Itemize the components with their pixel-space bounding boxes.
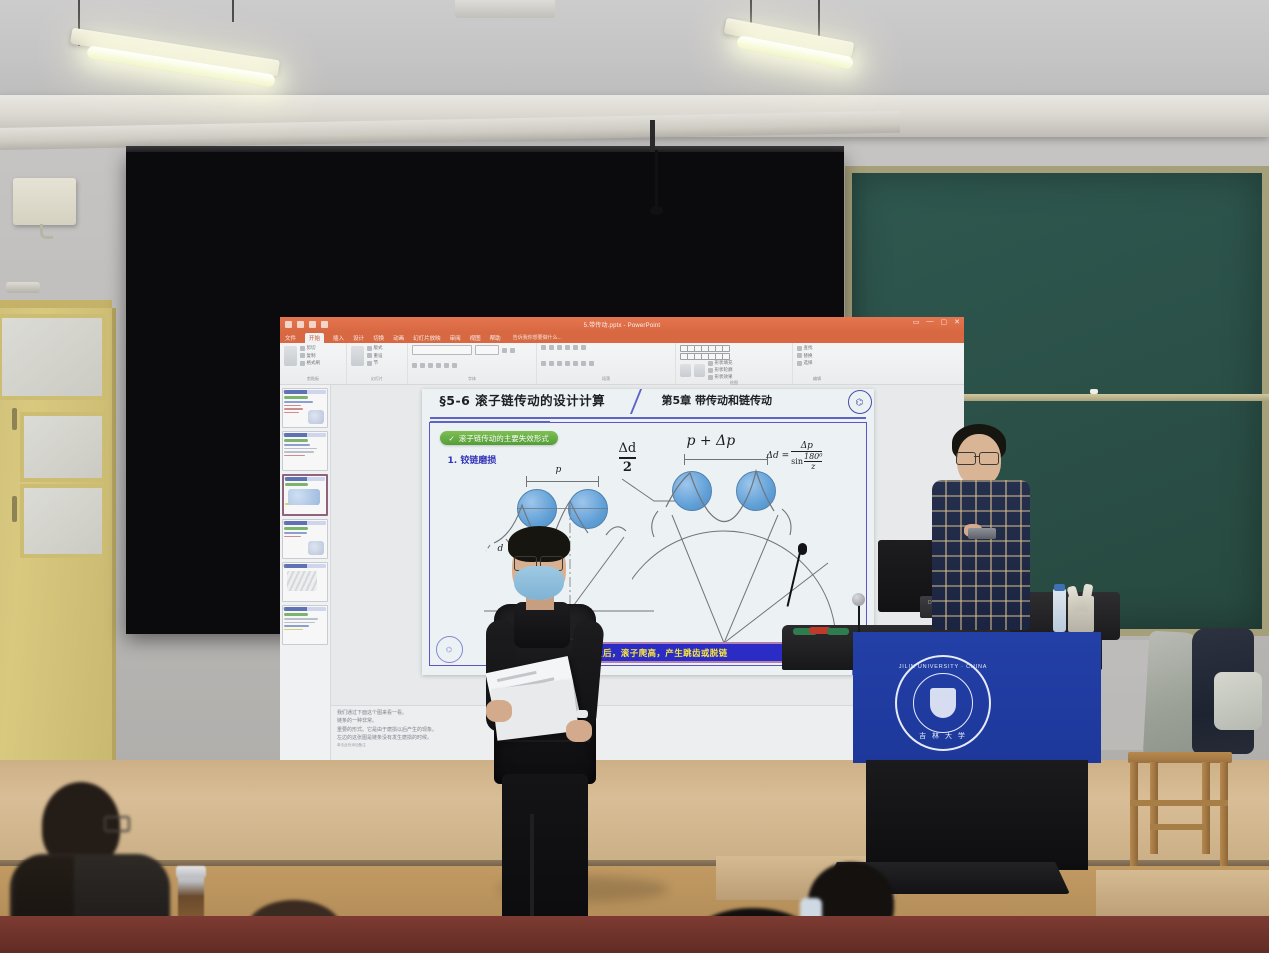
wall-bracket — [40, 224, 53, 239]
window-controls[interactable]: ▭ — ▢ ✕ — [913, 318, 960, 326]
minimize-icon[interactable]: — — [927, 318, 934, 326]
decrease-font-size-icon[interactable] — [510, 348, 515, 353]
ribbon-group-label-paragraph: 段落 — [541, 376, 671, 382]
thumbnail-number: 24 — [282, 521, 286, 525]
ribbon-group-label-slides: 幻灯片 — [351, 376, 403, 382]
thumb-line — [284, 532, 307, 534]
text-shadow-icon[interactable] — [436, 363, 441, 368]
gooseneck-microphone-icon — [798, 543, 807, 555]
thumbnail-slide-22[interactable]: 22 — [282, 431, 328, 471]
header-rule-accent — [430, 421, 550, 423]
emblem-english-text: JILIN UNIVERSITY · CHINA — [899, 664, 987, 670]
ribbon-group-label-font: 字体 — [412, 376, 532, 382]
thumb-artwork — [308, 410, 324, 424]
lamp-wire — [232, 0, 234, 22]
ribbon-group-label-editing: 编辑 — [797, 376, 837, 382]
emblem-inner-ring — [913, 673, 973, 733]
thumb-artwork — [287, 571, 317, 591]
person-at-podium — [938, 424, 1034, 634]
label-p-plus-delta-p: p + Δp — [687, 433, 736, 449]
pipe-fitting — [6, 282, 40, 293]
ribbon-group-editing[interactable]: 查找 替换 选择 编辑 — [793, 343, 841, 384]
cut-button[interactable]: 剪切 — [300, 345, 320, 351]
equation-delta-d: Δd = Δp sin 180⁰ z — [767, 441, 823, 471]
wall-speaker-box — [13, 178, 76, 225]
thumb-line — [284, 536, 301, 538]
thumb-line — [284, 401, 313, 403]
thumb-line — [284, 451, 314, 453]
wristwatch — [576, 710, 588, 718]
door-glass-pane — [20, 484, 106, 558]
door-glass-pane — [0, 314, 106, 400]
align-right-icon[interactable] — [557, 361, 562, 366]
thumb-header — [284, 390, 326, 394]
slide-thumbnail-pane[interactable]: 21 22 — [280, 385, 331, 769]
arrange-icon[interactable] — [680, 364, 691, 377]
tab-help[interactable]: 帮助 — [490, 334, 501, 342]
stool-leg — [1220, 762, 1228, 866]
thumbnail-slide-26[interactable]: 26 — [282, 605, 328, 645]
tab-review[interactable]: 审阅 — [450, 334, 461, 342]
water-bottle — [1053, 588, 1066, 632]
podium-base — [866, 760, 1088, 870]
paste-icon[interactable] — [284, 346, 297, 366]
thumb-header — [284, 433, 326, 437]
maximize-icon[interactable]: ▢ — [941, 318, 948, 326]
quick-styles-icon[interactable] — [694, 364, 705, 377]
thumb-header — [284, 607, 326, 611]
lamp-wire — [818, 0, 820, 40]
speaking-podium: JILIN UNIVERSITY · CHINA 吉 林 大 学 — [853, 632, 1101, 763]
emblem-shield-icon — [930, 688, 956, 718]
thumbnail-slide-24[interactable]: 24 — [282, 519, 328, 559]
thumb-header — [285, 477, 325, 481]
columns-icon[interactable] — [573, 361, 578, 366]
thumb-line — [284, 629, 303, 631]
classroom-door[interactable] — [0, 308, 116, 823]
tab-slideshow[interactable]: 幻灯片放映 — [413, 334, 441, 342]
font-color-icon[interactable] — [452, 363, 457, 368]
thumb-line — [284, 625, 309, 627]
thumb-line — [284, 408, 303, 410]
thumbnail-slide-23-selected[interactable]: 23 — [282, 474, 328, 516]
ribbon-group-clipboard[interactable]: 剪切 复制 格式刷 剪贴板 — [280, 343, 347, 384]
glasses-left-lens-icon — [956, 452, 976, 465]
equation-denominator: sin 180⁰ z — [791, 452, 822, 471]
text-direction-icon[interactable] — [581, 345, 586, 350]
tab-home[interactable]: 开始 — [305, 333, 324, 343]
laser-pointer-cable — [655, 150, 658, 212]
equation-numerator: Δp — [791, 441, 822, 451]
stool-rail — [1130, 800, 1228, 806]
new-slide-icon[interactable] — [351, 346, 364, 366]
find-button[interactable]: 查找 — [797, 345, 837, 351]
thumbnail-number: 26 — [282, 607, 286, 611]
ribbon-group-slides[interactable]: 版式 重设 节 幻灯片 — [347, 343, 408, 384]
underline-icon[interactable] — [428, 363, 433, 368]
sprocket-tooth-profile-right — [632, 467, 862, 647]
slide-chapter-title: 第5章 带传动和链传动 — [662, 392, 772, 408]
slide-item-1: 1. 铰链磨损 — [448, 453, 497, 466]
bullet-banner-label: 滚子链传动的主要失效形式 — [459, 433, 549, 444]
fraction-numerator: Δd — [619, 441, 637, 456]
face-mask — [514, 566, 564, 600]
plaid-shirt — [932, 480, 1030, 630]
tell-me-search[interactable]: 告诉我你想要做什么... — [513, 334, 562, 341]
bottle-cap — [1054, 584, 1065, 591]
door-handle[interactable] — [12, 408, 17, 430]
door-lock[interactable] — [12, 496, 17, 522]
label-p: p — [556, 465, 562, 475]
green-marker-2[interactable] — [827, 628, 849, 635]
thumb-line — [284, 622, 315, 624]
thumb-header — [284, 521, 326, 525]
shape-more-icon[interactable] — [722, 345, 730, 352]
tab-file[interactable]: 文件 — [285, 334, 296, 342]
glasses-right-lens-icon — [979, 452, 999, 465]
ppt-document-title: 5.带传动.pptx - PowerPoint — [280, 320, 964, 329]
close-icon[interactable]: ✕ — [954, 318, 960, 326]
presenter-person — [488, 524, 604, 949]
thumb-line — [284, 444, 310, 446]
dim-line-p — [526, 481, 598, 482]
projector-screen: 5.带传动.pptx - PowerPoint ▭ — ▢ ✕ 文件 开始 插入… — [126, 152, 844, 634]
align-center-icon[interactable] — [549, 361, 554, 366]
format-painter-button[interactable]: 格式刷 — [300, 360, 320, 366]
ppt-title-bar: 5.带传动.pptx - PowerPoint ▭ — ▢ ✕ — [280, 317, 964, 332]
bold-icon[interactable] — [412, 363, 417, 368]
inner-fraction: 180⁰ z — [804, 452, 822, 471]
shape-callout-icon[interactable] — [722, 353, 730, 360]
lecture-hall-photo: 5.带传动.pptx - PowerPoint ▭ — ▢ ✕ 文件 开始 插入… — [0, 0, 1269, 953]
student-desk-front-row — [0, 916, 1269, 953]
thumbnail-slide-25[interactable]: 25 — [282, 562, 328, 602]
slide-bullet-banner: ✓ 滚子链传动的主要失效形式 — [440, 431, 558, 445]
right-hand — [566, 720, 592, 742]
bullets-icon[interactable] — [541, 345, 546, 350]
pointer-tip-icon — [650, 206, 663, 215]
shapes-gallery[interactable] — [680, 345, 788, 360]
thumbnail-number: 23 — [283, 477, 287, 481]
numbering-icon[interactable] — [549, 345, 554, 350]
stool-leg — [1202, 762, 1210, 854]
check-icon: ✓ — [449, 434, 455, 443]
layout-button[interactable]: 版式 — [367, 345, 383, 351]
thermos-cap — [176, 866, 206, 878]
dim-line-pdp — [684, 459, 768, 460]
shape-fill-button[interactable]: 形状填充 — [708, 360, 733, 366]
tab-insert[interactable]: 插入 — [333, 334, 344, 342]
replace-button[interactable]: 替换 — [797, 353, 837, 359]
thumb-pill — [284, 613, 308, 616]
strikethrough-icon[interactable] — [444, 363, 449, 368]
italic-icon[interactable] — [420, 363, 425, 368]
university-watermark-icon: ⌬ — [436, 636, 463, 663]
ribbon-group-paragraph[interactable]: 段落 — [537, 343, 676, 384]
smartphone[interactable] — [968, 528, 996, 539]
emblem-chinese-text: 吉 林 大 学 — [919, 731, 967, 741]
reset-button[interactable]: 重设 — [367, 353, 383, 359]
thumb-artwork — [288, 489, 320, 505]
stool-leg — [1150, 762, 1158, 854]
fraction-bar — [619, 457, 637, 459]
tab-animations[interactable]: 动画 — [393, 334, 404, 342]
inner-numerator: 180⁰ — [804, 452, 822, 461]
thumb-pill — [284, 527, 308, 530]
marker-tray — [793, 627, 849, 635]
thumb-line — [284, 618, 318, 620]
thumb-line — [284, 412, 299, 414]
font-size-combobox[interactable] — [475, 345, 499, 355]
chalk-piece[interactable] — [1090, 389, 1098, 394]
thumb-pill — [285, 483, 308, 486]
thumb-pill — [284, 396, 308, 399]
justify-icon[interactable] — [565, 361, 570, 366]
thumbnail-number: 21 — [282, 390, 286, 394]
university-logo-icon: ⌬ — [848, 390, 872, 414]
stool-leg — [1130, 762, 1138, 866]
stool-seat — [1128, 752, 1232, 763]
tab-transitions[interactable]: 切换 — [373, 334, 384, 342]
thumb-artwork — [308, 541, 324, 555]
shape-outline-button[interactable]: 形状轮廓 — [708, 367, 733, 373]
copy-button[interactable]: 复制 — [300, 353, 320, 359]
thumb-line — [284, 448, 317, 450]
glasses-icon — [104, 816, 130, 832]
ribbon-group-font[interactable]: 字体 — [408, 343, 537, 384]
wooden-stool — [1128, 752, 1232, 868]
select-button[interactable]: 选择 — [797, 360, 837, 366]
thumbnail-number: 25 — [282, 564, 286, 568]
ribbon-group-label-clipboard: 剪贴板 — [284, 376, 342, 382]
glasses-bridge — [535, 561, 540, 562]
equation-lhs: Δd = — [767, 451, 790, 461]
thumb-line — [284, 405, 301, 407]
slide-section-title: §5-6 滚子链传动的设计计算 — [440, 390, 606, 409]
stool-rail — [1150, 824, 1206, 830]
convert-smartart-icon[interactable] — [589, 361, 594, 366]
increase-indent-icon[interactable] — [565, 345, 570, 350]
glasses-bridge — [974, 456, 979, 457]
line-spacing-icon[interactable] — [573, 345, 578, 350]
equation-fraction: Δp sin 180⁰ z — [791, 441, 822, 471]
stage-step — [1096, 870, 1269, 920]
increase-font-size-icon[interactable] — [502, 348, 507, 353]
decrease-indent-icon[interactable] — [557, 345, 562, 350]
sin-label: sin — [791, 457, 803, 466]
jilin-university-emblem: JILIN UNIVERSITY · CHINA 吉 林 大 学 — [895, 655, 991, 751]
font-name-combobox[interactable] — [412, 345, 472, 355]
tab-view[interactable]: 视图 — [470, 334, 481, 342]
thumb-header — [284, 564, 326, 568]
door-glass-pane — [20, 412, 106, 482]
thumb-line — [284, 455, 305, 457]
dim-tick — [684, 454, 685, 465]
header-rule — [430, 417, 866, 420]
align-left-icon[interactable] — [541, 361, 546, 366]
ribbon-group-drawing[interactable]: 形状填充 形状轮廓 形状效果 绘图 — [676, 343, 793, 384]
inner-denominator: z — [804, 462, 822, 471]
handheld-microphone-icon[interactable] — [852, 593, 865, 606]
draped-bag — [1214, 672, 1262, 730]
left-hand — [486, 700, 512, 722]
thumb-pill — [284, 439, 308, 442]
ribbon-tabs[interactable]: 文件 开始 插入 设计 切换 动画 幻灯片放映 审阅 视图 帮助 告诉我你想要做… — [280, 332, 964, 343]
thumbnail-number: 22 — [282, 433, 286, 437]
thumbnail-slide-21[interactable]: 21 — [282, 388, 328, 428]
ribbon[interactable]: 剪切 复制 格式刷 剪贴板 版式 重设 节 幻灯片 — [280, 343, 964, 385]
align-text-icon[interactable] — [581, 361, 586, 366]
ribbon-display-options-icon[interactable]: ▭ — [913, 318, 920, 326]
section-button[interactable]: 节 — [367, 360, 383, 366]
ceiling-vent-icon — [455, 0, 555, 18]
tab-design[interactable]: 设计 — [353, 334, 364, 342]
